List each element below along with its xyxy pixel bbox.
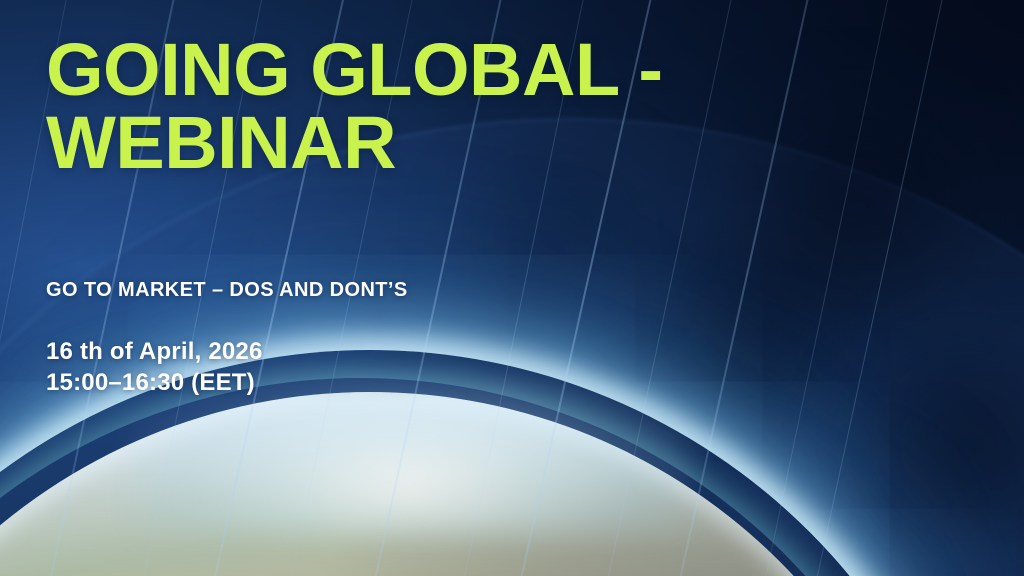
event-time: 15:00–16:30 (EET) [46,368,263,399]
slide-text-content: GOING GLOBAL - WEBINAR GO TO MARKET – DO… [46,0,806,576]
slide-subtitle: GO TO MARKET – DOS AND DONT’S [46,279,408,302]
page-title: GOING GLOBAL - WEBINAR [46,34,786,179]
webinar-title-slide: GOING GLOBAL - WEBINAR GO TO MARKET – DO… [0,0,1024,576]
event-datetime: 16 th of April, 2026 15:00–16:30 (EET) [46,337,263,398]
event-date: 16 th of April, 2026 [46,337,263,368]
